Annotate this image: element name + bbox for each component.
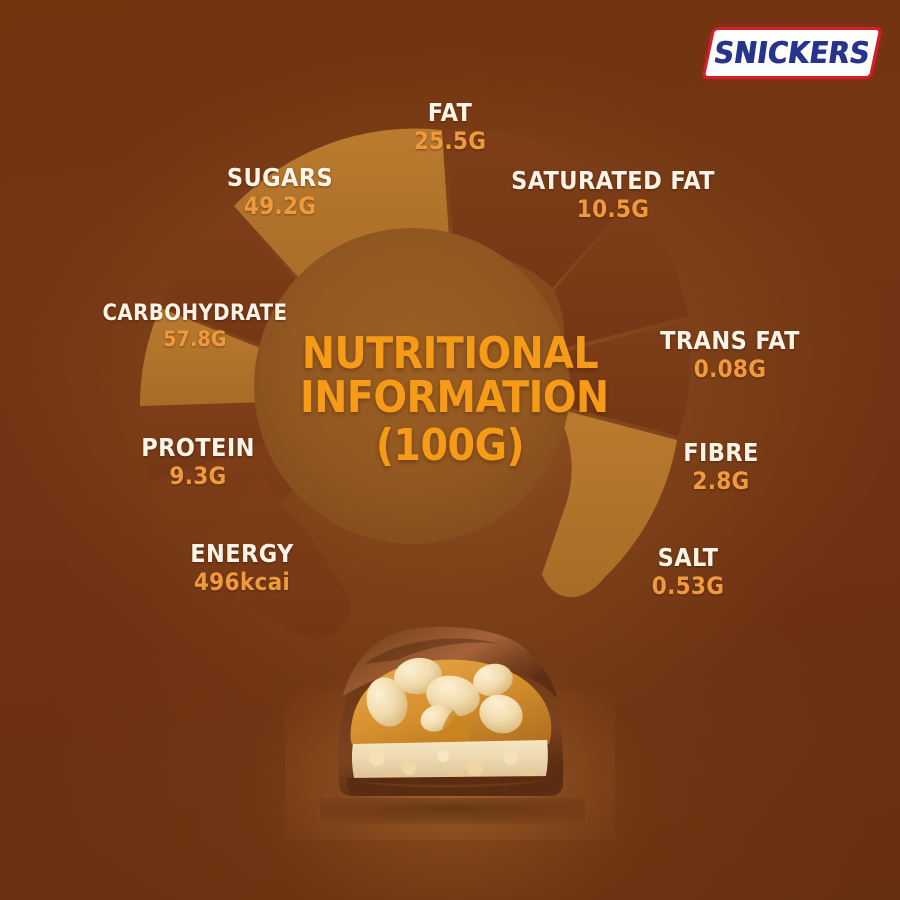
- segment-name-fat: FAT: [374, 100, 526, 126]
- segment-label-fibre[interactable]: FIBRE 2.8G: [642, 440, 800, 494]
- segment-value-salt: 0.53G: [608, 574, 768, 599]
- segment-label-salt[interactable]: SALT 0.53G: [608, 545, 768, 599]
- segment-name-salt: SALT: [608, 545, 768, 571]
- title-line-2: INFORMATION: [300, 376, 600, 420]
- title-line-3: (100G): [300, 424, 600, 468]
- segment-name-carbohydrate: CARBOHYDRATE: [100, 303, 290, 326]
- segment-value-carbohydrate: 57.8G: [100, 329, 290, 351]
- segment-name-trans-fat: TRANS FAT: [640, 328, 820, 354]
- segment-label-sugars[interactable]: SUGARS 49.2G: [190, 165, 370, 219]
- infographic-canvas: SNICKERS: [0, 0, 900, 900]
- chocolate-bar-cross-section: [325, 618, 575, 808]
- segment-value-fat: 25.5G: [374, 129, 526, 154]
- page-title: NUTRITIONAL INFORMATION (100G): [300, 332, 600, 468]
- segment-name-energy: ENERGY: [152, 541, 332, 567]
- segment-value-sugars: 49.2G: [190, 194, 370, 219]
- segment-label-carbohydrate[interactable]: CARBOHYDRATE 57.8G: [100, 303, 290, 351]
- segment-label-protein[interactable]: PROTEIN 9.3G: [118, 435, 278, 489]
- title-line-1: NUTRITIONAL: [300, 332, 600, 376]
- segment-value-fibre: 2.8G: [642, 469, 800, 494]
- segment-value-trans-fat: 0.08G: [640, 357, 820, 382]
- segment-label-energy[interactable]: ENERGY 496kcai: [152, 541, 332, 595]
- segment-label-trans-fat[interactable]: TRANS FAT 0.08G: [640, 328, 820, 382]
- segment-label-saturated-fat[interactable]: SATURATED FAT 10.5G: [508, 168, 718, 222]
- segment-label-fat[interactable]: FAT 25.5G: [374, 100, 526, 154]
- segment-name-saturated-fat: SATURATED FAT: [508, 168, 718, 194]
- segment-value-energy: 496kcai: [152, 570, 332, 595]
- segment-name-sugars: SUGARS: [190, 165, 370, 191]
- segment-name-fibre: FIBRE: [642, 440, 800, 466]
- segment-value-saturated-fat: 10.5G: [508, 197, 718, 222]
- segment-name-protein: PROTEIN: [118, 435, 278, 461]
- segment-value-protein: 9.3G: [118, 464, 278, 489]
